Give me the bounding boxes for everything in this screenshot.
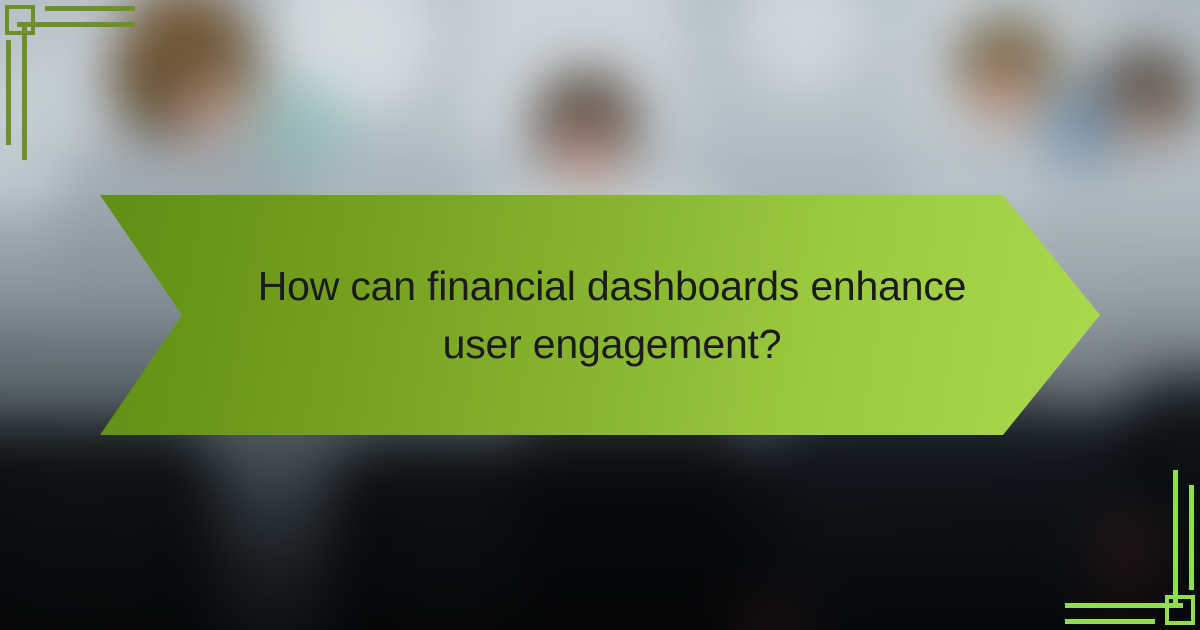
corner-rule-horizontal <box>1065 603 1183 608</box>
corner-bracket-bottom-right <box>1030 455 1200 630</box>
banner-canvas: How can financial dashboards enhance use… <box>0 0 1200 630</box>
corner-elbow-joint <box>1189 580 1194 590</box>
corner-square-icon <box>1165 595 1195 625</box>
corner-rule-horizontal <box>45 6 135 11</box>
corner-rule-vertical <box>6 45 11 145</box>
corner-square-icon <box>5 5 35 35</box>
corner-rule-vertical <box>1173 470 1178 608</box>
corner-elbow-joint <box>6 40 11 50</box>
corner-rule-vertical <box>1189 485 1194 585</box>
headline-ribbon: How can financial dashboards enhance use… <box>100 195 1100 435</box>
headline-text: How can financial dashboards enhance use… <box>232 257 992 373</box>
corner-rule-vertical <box>22 22 27 160</box>
corner-bracket-top-left <box>0 0 170 175</box>
corner-rule-horizontal <box>17 22 135 27</box>
corner-rule-horizontal <box>1065 619 1155 624</box>
